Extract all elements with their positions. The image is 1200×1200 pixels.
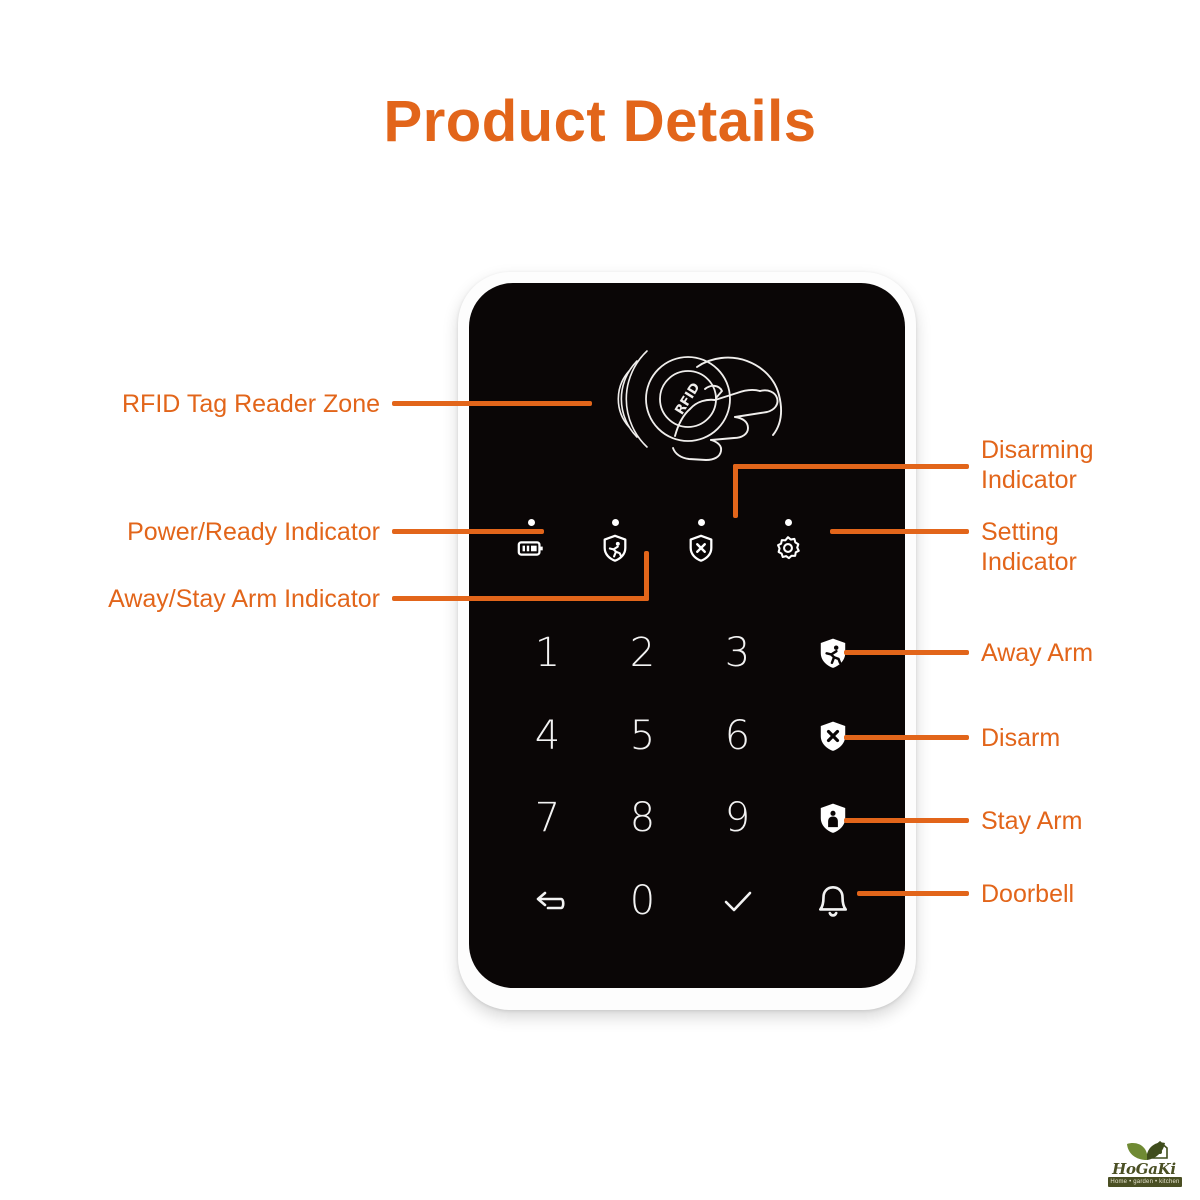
- label-doorbell: Doorbell: [981, 879, 1191, 909]
- key-9[interactable]: 9: [690, 777, 785, 860]
- leader-line-disarming-vertical: [733, 464, 738, 518]
- checkmark-icon: [718, 881, 758, 921]
- back-arrow-icon: [530, 883, 566, 919]
- shield-running-icon: [600, 533, 630, 563]
- label-disarming-indicator: Disarming Indicator: [981, 435, 1191, 495]
- indicator-setting: [757, 505, 819, 563]
- leader-line-doorbell: [857, 891, 969, 896]
- indicator-power-ready: [500, 505, 562, 563]
- leaf-logo-icon: [1124, 1138, 1170, 1162]
- key-1[interactable]: 1: [500, 612, 595, 695]
- brand-name: HoGaKi: [1098, 1160, 1190, 1178]
- label-power-ready-indicator: Power/Ready Indicator: [60, 517, 380, 547]
- disarming-led: [698, 519, 705, 526]
- shield-x-icon: [686, 533, 716, 563]
- key-5[interactable]: 5: [595, 695, 690, 778]
- key-6[interactable]: 6: [690, 695, 785, 778]
- bell-icon: [814, 882, 852, 920]
- page-title: Product Details: [0, 88, 1200, 155]
- leader-line-disarm: [844, 735, 969, 740]
- brand-watermark: HoGaKi Home • garden • kitchen: [1098, 1138, 1190, 1190]
- keypad-grid: 1 2 3 4 5 6 7 8 9: [500, 612, 880, 942]
- indicator-away-stay-arm: [584, 505, 646, 563]
- leader-line-disarming-horizontal: [733, 464, 969, 469]
- label-disarm: Disarm: [981, 723, 1191, 753]
- leader-line-stay-arm: [844, 818, 969, 823]
- key-2[interactable]: 2: [595, 612, 690, 695]
- key-8[interactable]: 8: [595, 777, 690, 860]
- key-3[interactable]: 3: [690, 612, 785, 695]
- key-7[interactable]: 7: [500, 777, 595, 860]
- key-back[interactable]: [500, 860, 595, 943]
- leader-line-power-ready-indicator: [392, 529, 544, 534]
- label-setting-indicator: Setting Indicator: [981, 517, 1191, 577]
- label-away-arm: Away Arm: [981, 638, 1191, 668]
- leader-line-away-stay-arm-horizontal: [392, 596, 649, 601]
- gear-icon: [773, 533, 803, 563]
- product-details-page: Product Details RFID: [0, 0, 1200, 1200]
- leader-line-away-arm: [844, 650, 969, 655]
- brand-tagline: Home • garden • kitchen: [1108, 1177, 1182, 1187]
- leader-line-away-stay-arm-vertical: [644, 551, 649, 601]
- indicator-disarming: [670, 505, 732, 563]
- rfid-reader-zone-artwork[interactable]: RFID: [585, 305, 825, 480]
- key-doorbell[interactable]: [785, 860, 880, 943]
- key-0[interactable]: 0: [595, 860, 690, 943]
- label-rfid-tag-reader-zone: RFID Tag Reader Zone: [60, 389, 380, 419]
- label-away-stay-arm-indicator: Away/Stay Arm Indicator: [40, 584, 380, 614]
- battery-icon: [516, 533, 546, 563]
- away-stay-arm-led: [612, 519, 619, 526]
- leader-line-setting-indicator: [830, 529, 969, 534]
- key-confirm[interactable]: [690, 860, 785, 943]
- indicator-row: [469, 505, 905, 565]
- label-stay-arm: Stay Arm: [981, 806, 1191, 836]
- leader-line-rfid-tag-reader-zone: [392, 401, 592, 406]
- setting-led: [785, 519, 792, 526]
- key-4[interactable]: 4: [500, 695, 595, 778]
- power-ready-led: [528, 519, 535, 526]
